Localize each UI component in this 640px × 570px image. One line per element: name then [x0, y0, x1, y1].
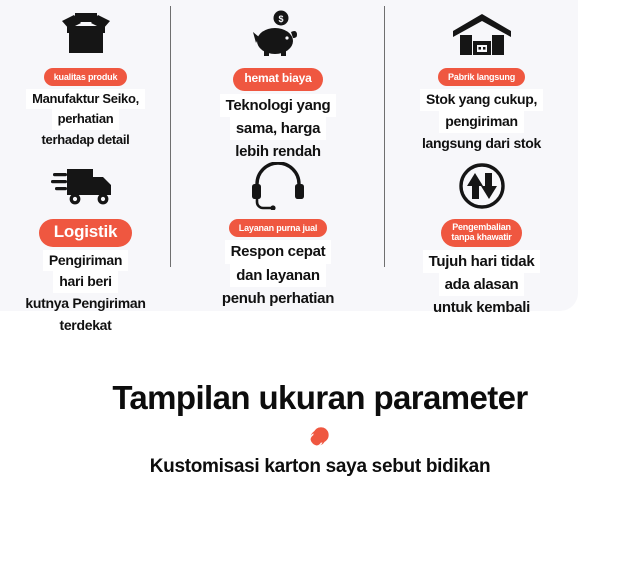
feature-text-line: penuh perhatian — [216, 287, 340, 310]
delivery-truck-icon — [0, 157, 171, 215]
feature-grid: kualitas produk Manufaktur Seiko, perhat… — [0, 0, 578, 311]
headline-section: Tampilan ukuran parameter Kustomisasi ka… — [0, 380, 640, 478]
feature-text-line: Respon cepat — [225, 240, 332, 263]
feature-block-pabrik-langsung: Pabrik langsung Stok yang cukup, pengiri… — [385, 6, 578, 154]
badge-row: Pengembalian tanpa khawatir — [385, 219, 578, 247]
badge-kualitas-produk: kualitas produk — [44, 68, 128, 86]
badge-row: Pabrik langsung — [385, 68, 578, 86]
feature-text-line: Pengiriman — [43, 250, 128, 272]
feature-text-logistik: Pengiriman hari beri kutnya Pengiriman t… — [0, 250, 171, 337]
badge-pengembalian: Pengembalian tanpa khawatir — [441, 219, 521, 247]
feature-panel: kualitas produk Manufaktur Seiko, perhat… — [0, 0, 578, 311]
page-title: Tampilan ukuran parameter — [0, 380, 640, 416]
feature-text-line: kutnya Pengiriman — [19, 293, 151, 315]
svg-text:$: $ — [278, 14, 283, 24]
feature-block-logistik: Logistik Pengiriman hari beri kutnya Pen… — [0, 157, 171, 336]
feature-text-line: Manufaktur Seiko, — [26, 89, 145, 109]
feature-column-2: $ hemat biaya Teknologi yang sama, harga… — [171, 0, 385, 311]
feature-text-line: untuk kembali — [427, 296, 536, 319]
feature-block-layanan-purna-jual: Layanan purna jual Respon cepat dan laya… — [171, 157, 385, 310]
feature-block-pengembalian: Pengembalian tanpa khawatir Tujuh hari t… — [385, 157, 578, 319]
feature-text-line: sama, harga — [230, 117, 326, 140]
feature-text-line: dan layanan — [230, 264, 325, 287]
warehouse-icon — [385, 6, 578, 64]
badge-row: Logistik — [0, 219, 171, 247]
open-box-icon — [0, 6, 171, 64]
page-root: kualitas produk Manufaktur Seiko, perhat… — [0, 0, 640, 570]
feature-text-line: hari beri — [53, 271, 118, 293]
badge-row: kualitas produk — [0, 68, 171, 86]
badge-row: Layanan purna jual — [171, 219, 385, 237]
feature-column-1: kualitas produk Manufaktur Seiko, perhat… — [0, 0, 171, 311]
feature-text-line: langsung dari stok — [416, 133, 547, 155]
badge-layanan-purna-jual: Layanan purna jual — [229, 219, 327, 237]
feature-text-line: ada alasan — [439, 273, 525, 296]
feature-text-kualitas-produk: Manufaktur Seiko, perhatian terhadap det… — [0, 89, 171, 149]
piggy-bank-icon: $ — [171, 6, 385, 64]
return-exchange-icon — [385, 157, 578, 215]
feature-block-hemat-biaya: $ hemat biaya Teknologi yang sama, harga… — [171, 6, 385, 164]
feature-text-hemat-biaya: Teknologi yang sama, harga lebih rendah — [171, 94, 385, 164]
feature-text-line: Teknologi yang — [220, 94, 337, 117]
badge-logistik: Logistik — [39, 219, 133, 247]
decoration-dot-wrap — [0, 416, 640, 456]
feature-text-line: Stok yang cukup, — [420, 89, 543, 111]
feature-text-line: terdekat — [53, 315, 117, 337]
feature-column-3: Pabrik langsung Stok yang cukup, pengiri… — [385, 0, 578, 311]
feature-text-layanan-purna-jual: Respon cepat dan layanan penuh perhatian — [171, 240, 385, 310]
red-circle-dot-icon — [307, 424, 333, 448]
feature-block-kualitas-produk: kualitas produk Manufaktur Seiko, perhat… — [0, 6, 171, 150]
headset-icon — [171, 157, 385, 215]
badge-row: hemat biaya — [171, 68, 385, 91]
badge-pabrik-langsung: Pabrik langsung — [438, 68, 525, 86]
badge-hemat-biaya: hemat biaya — [233, 68, 322, 91]
page-subtitle: Kustomisasi karton saya sebut bidikan — [0, 456, 640, 478]
feature-text-line: pengiriman — [439, 111, 523, 133]
feature-text-line: Tujuh hari tidak — [423, 250, 541, 273]
feature-text-line: terhadap detail — [36, 130, 136, 150]
feature-text-line: perhatian — [52, 109, 120, 129]
feature-text-pengembalian: Tujuh hari tidak ada alasan untuk kembal… — [385, 250, 578, 320]
feature-text-pabrik-langsung: Stok yang cukup, pengiriman langsung dar… — [385, 89, 578, 154]
